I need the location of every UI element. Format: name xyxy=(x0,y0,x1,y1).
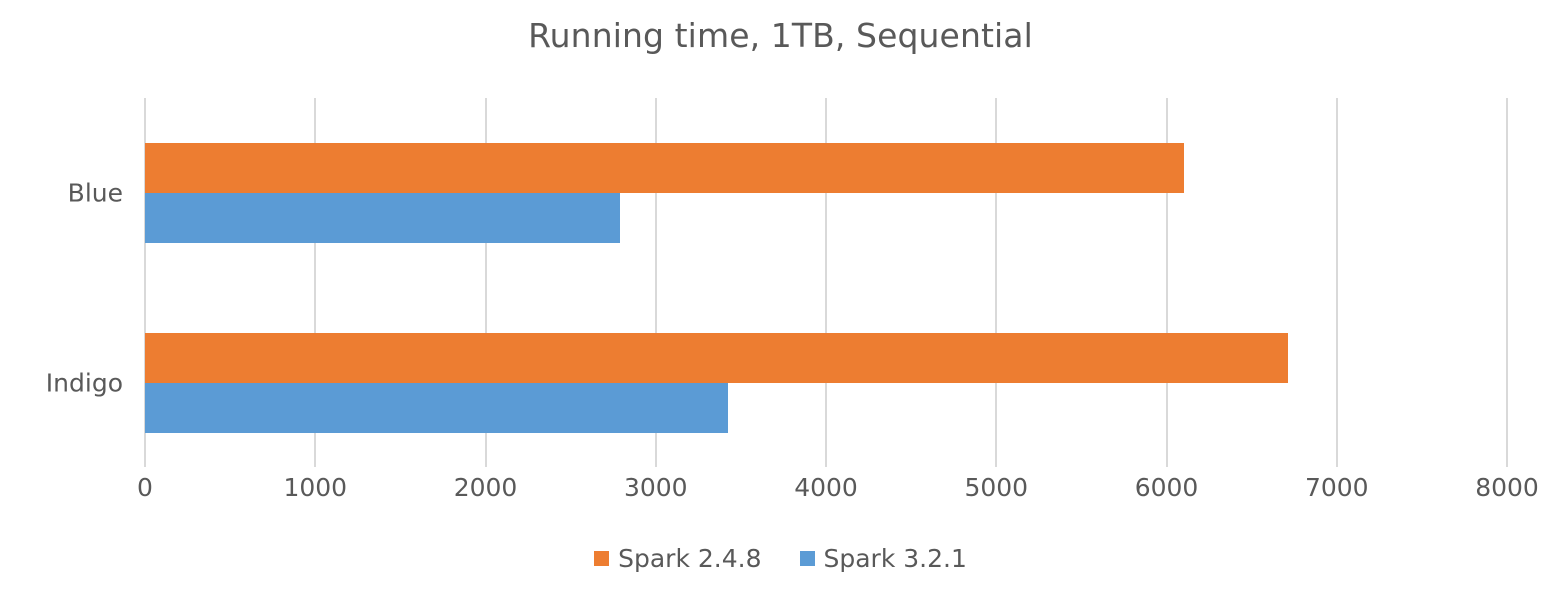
x-tick-label-1000: 1000 xyxy=(283,475,347,500)
value-axis-labels: 010002000300040005000600070008000 xyxy=(145,475,1507,515)
bars-layer xyxy=(145,98,1507,467)
x-tick-label-6000: 6000 xyxy=(1135,475,1199,500)
x-tick-label-4000: 4000 xyxy=(794,475,858,500)
x-tick-label-2000: 2000 xyxy=(454,475,518,500)
bar-indigo-spark-2-4-8[interactable] xyxy=(145,333,1288,383)
category-axis-labels: BlueIndigo xyxy=(0,98,123,467)
bar-indigo-spark-3-2-1[interactable] xyxy=(145,383,728,433)
x-tick-label-8000: 8000 xyxy=(1475,475,1539,500)
legend-swatch-icon xyxy=(594,551,609,566)
chart-container: Running time, 1TB, Sequential BlueIndigo… xyxy=(0,0,1561,592)
legend-item-spark-3-2-1[interactable]: Spark 3.2.1 xyxy=(800,546,967,571)
category-label-indigo: Indigo xyxy=(0,371,123,396)
x-tick-label-0: 0 xyxy=(137,475,153,500)
legend-label: Spark 2.4.8 xyxy=(618,546,761,571)
legend-item-spark-2-4-8[interactable]: Spark 2.4.8 xyxy=(594,546,761,571)
legend-label: Spark 3.2.1 xyxy=(824,546,967,571)
x-tick-label-5000: 5000 xyxy=(964,475,1028,500)
plot-area xyxy=(145,98,1507,467)
bar-blue-spark-3-2-1[interactable] xyxy=(145,193,620,243)
x-tick-label-3000: 3000 xyxy=(624,475,688,500)
bar-blue-spark-2-4-8[interactable] xyxy=(145,143,1184,193)
chart-legend: Spark 2.4.8Spark 3.2.1 xyxy=(0,546,1561,571)
category-label-blue: Blue xyxy=(0,181,123,206)
chart-title: Running time, 1TB, Sequential xyxy=(0,16,1561,56)
legend-swatch-icon xyxy=(800,551,815,566)
x-tick-label-7000: 7000 xyxy=(1305,475,1369,500)
